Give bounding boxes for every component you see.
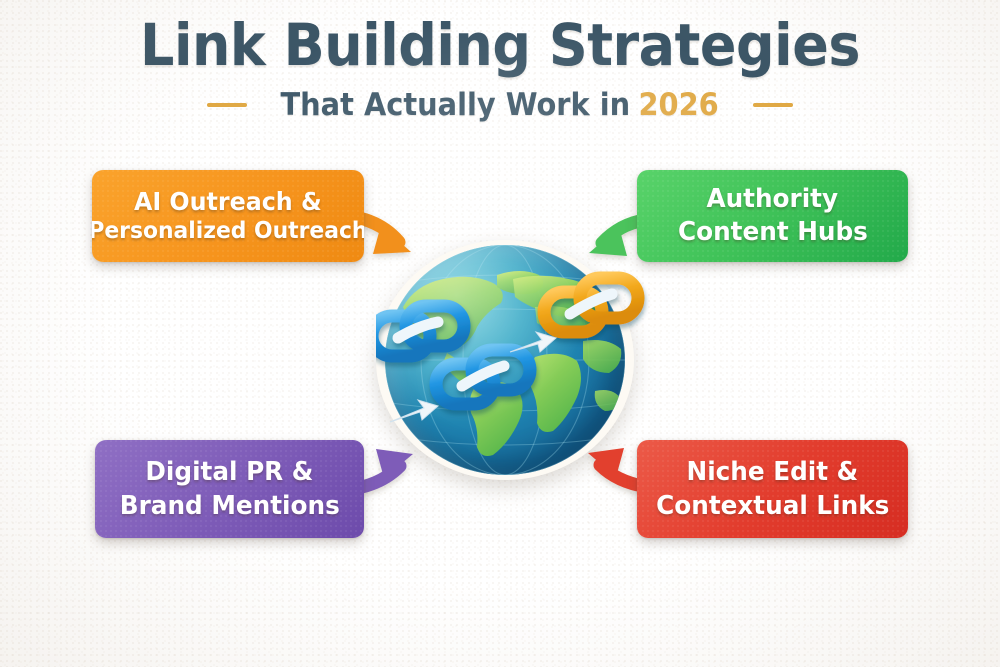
subtitle-row: That Actually Work in2026 (0, 87, 1000, 123)
card-line-1: Niche Edit & (687, 457, 859, 488)
strategy-card-ai-outreach[interactable]: AI Outreach & Personalized Outreach (92, 170, 364, 262)
strategy-card-authority-content-hubs[interactable]: Authority Content Hubs (637, 170, 908, 262)
page-title: Link Building Strategies (35, 14, 965, 77)
card-line-1: AI Outreach & (134, 187, 322, 217)
globe-sphere (385, 245, 625, 475)
strategy-card-niche-edit[interactable]: Niche Edit & Contextual Links (637, 440, 908, 538)
card-line-1: Digital PR & (146, 457, 314, 488)
subtitle-text: That Actually Work in2026 (281, 87, 719, 123)
card-line-1: Authority (707, 184, 839, 215)
subtitle-dash-left-icon (207, 103, 247, 107)
card-line-2: Contextual Links (656, 491, 889, 522)
subtitle-year: 2026 (639, 87, 719, 123)
card-line-2: Brand Mentions (120, 491, 340, 522)
card-line-2: Personalized Outreach (92, 218, 364, 245)
subtitle-dash-right-icon (753, 103, 793, 107)
globe-illustration (376, 240, 634, 480)
card-line-2: Content Hubs (678, 217, 868, 248)
header: Link Building Strategies That Actually W… (0, 14, 1000, 123)
strategy-card-digital-pr[interactable]: Digital PR & Brand Mentions (95, 440, 364, 538)
infographic-canvas: Link Building Strategies That Actually W… (0, 0, 1000, 667)
globe-continents (385, 245, 625, 475)
subtitle-prefix: That Actually Work in (281, 87, 631, 123)
